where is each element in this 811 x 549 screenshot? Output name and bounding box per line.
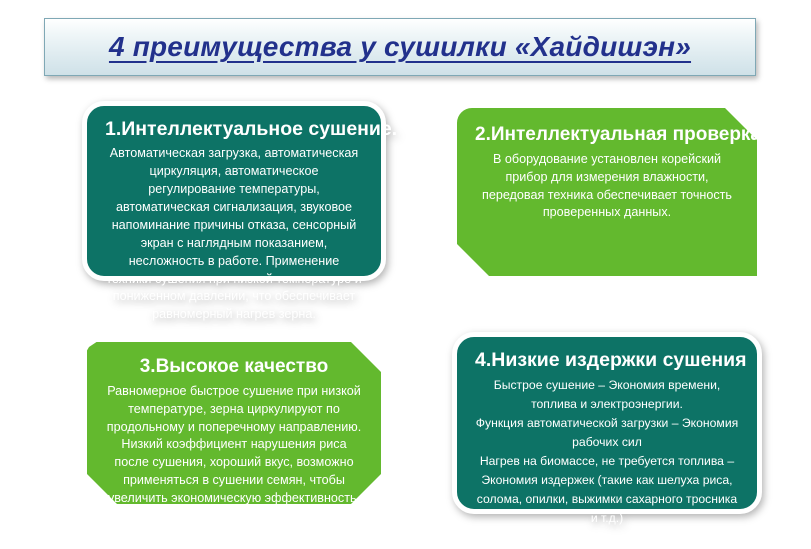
advantage-card-2-paragraph: В оборудование установлен корейский приб…: [475, 151, 739, 223]
page-title: 4 преимущества у сушилки «Хайдишэн»: [109, 31, 691, 63]
page-title-banner: 4 преимущества у сушилки «Хайдишэн»: [44, 18, 756, 76]
advantage-card-3: 3.Высокое качество Равномерное быстрое с…: [82, 337, 386, 509]
advantage-card-2-body: В оборудование установлен корейский приб…: [475, 151, 739, 223]
advantage-card-1-title: 1.Интеллектуальное сушение.: [105, 118, 363, 140]
advantage-card-3-body: Равномерное быстрое сушение при низкой т…: [105, 383, 363, 508]
advantage-card-4: 4.Низкие издержки сушения Быстрое сушени…: [452, 332, 762, 514]
advantage-card-1-body: Автоматическая загрузка, автоматическая …: [105, 145, 363, 324]
advantage-card-3-title: 3.Высокое качество: [105, 356, 363, 378]
advantage-card-4-paragraph-2: Функция автоматической загрузки – Эконом…: [475, 414, 739, 452]
advantage-card-2-title: 2.Интеллектуальная проверка: [475, 124, 739, 146]
advantage-card-4-title: 4.Низкие издержки сушения: [475, 349, 739, 371]
advantage-card-1: 1.Интеллектуальное сушение. Автоматическ…: [82, 101, 386, 281]
advantage-card-2: 2.Интеллектуальная проверка В оборудован…: [452, 103, 762, 281]
advantage-card-4-body: Быстрое сушение – Экономия времени, топл…: [475, 376, 739, 527]
advantage-card-4-paragraph-1: Быстрое сушение – Экономия времени, топл…: [475, 376, 739, 414]
advantage-card-4-paragraph-3: Нагрев на биомассе, не требуется топлива…: [475, 452, 739, 528]
advantage-card-1-paragraph: Автоматическая загрузка, автоматическая …: [105, 145, 363, 324]
advantage-card-3-paragraph: Равномерное быстрое сушение при низкой т…: [105, 383, 363, 508]
